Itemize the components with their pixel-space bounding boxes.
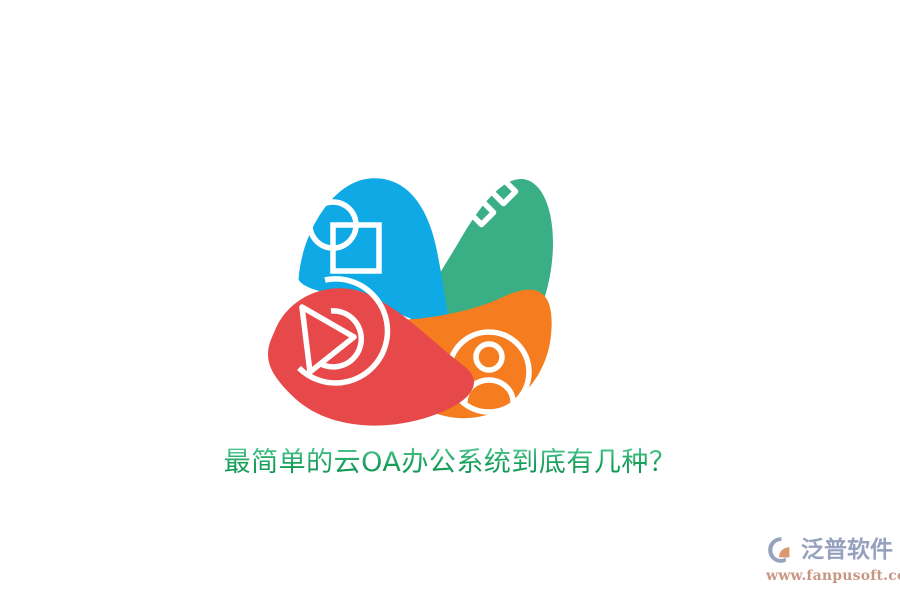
hero-image-canvas: 最简单的云OA办公系统到底有几种？ 泛普软件 www.fanpusoft.com: [0, 0, 900, 600]
watermark-brand-row: 泛普软件: [766, 533, 894, 567]
page-title: 最简单的云OA办公系统到底有几种？: [0, 443, 900, 483]
four-petal-pinwheel-logo: [255, 125, 565, 435]
watermark: 泛普软件 www.fanpusoft.com: [766, 533, 894, 591]
watermark-url-text: www.fanpusoft.com: [766, 568, 894, 584]
fanpu-logo-icon: [766, 535, 796, 565]
watermark-brand-text: 泛普软件: [801, 535, 893, 565]
